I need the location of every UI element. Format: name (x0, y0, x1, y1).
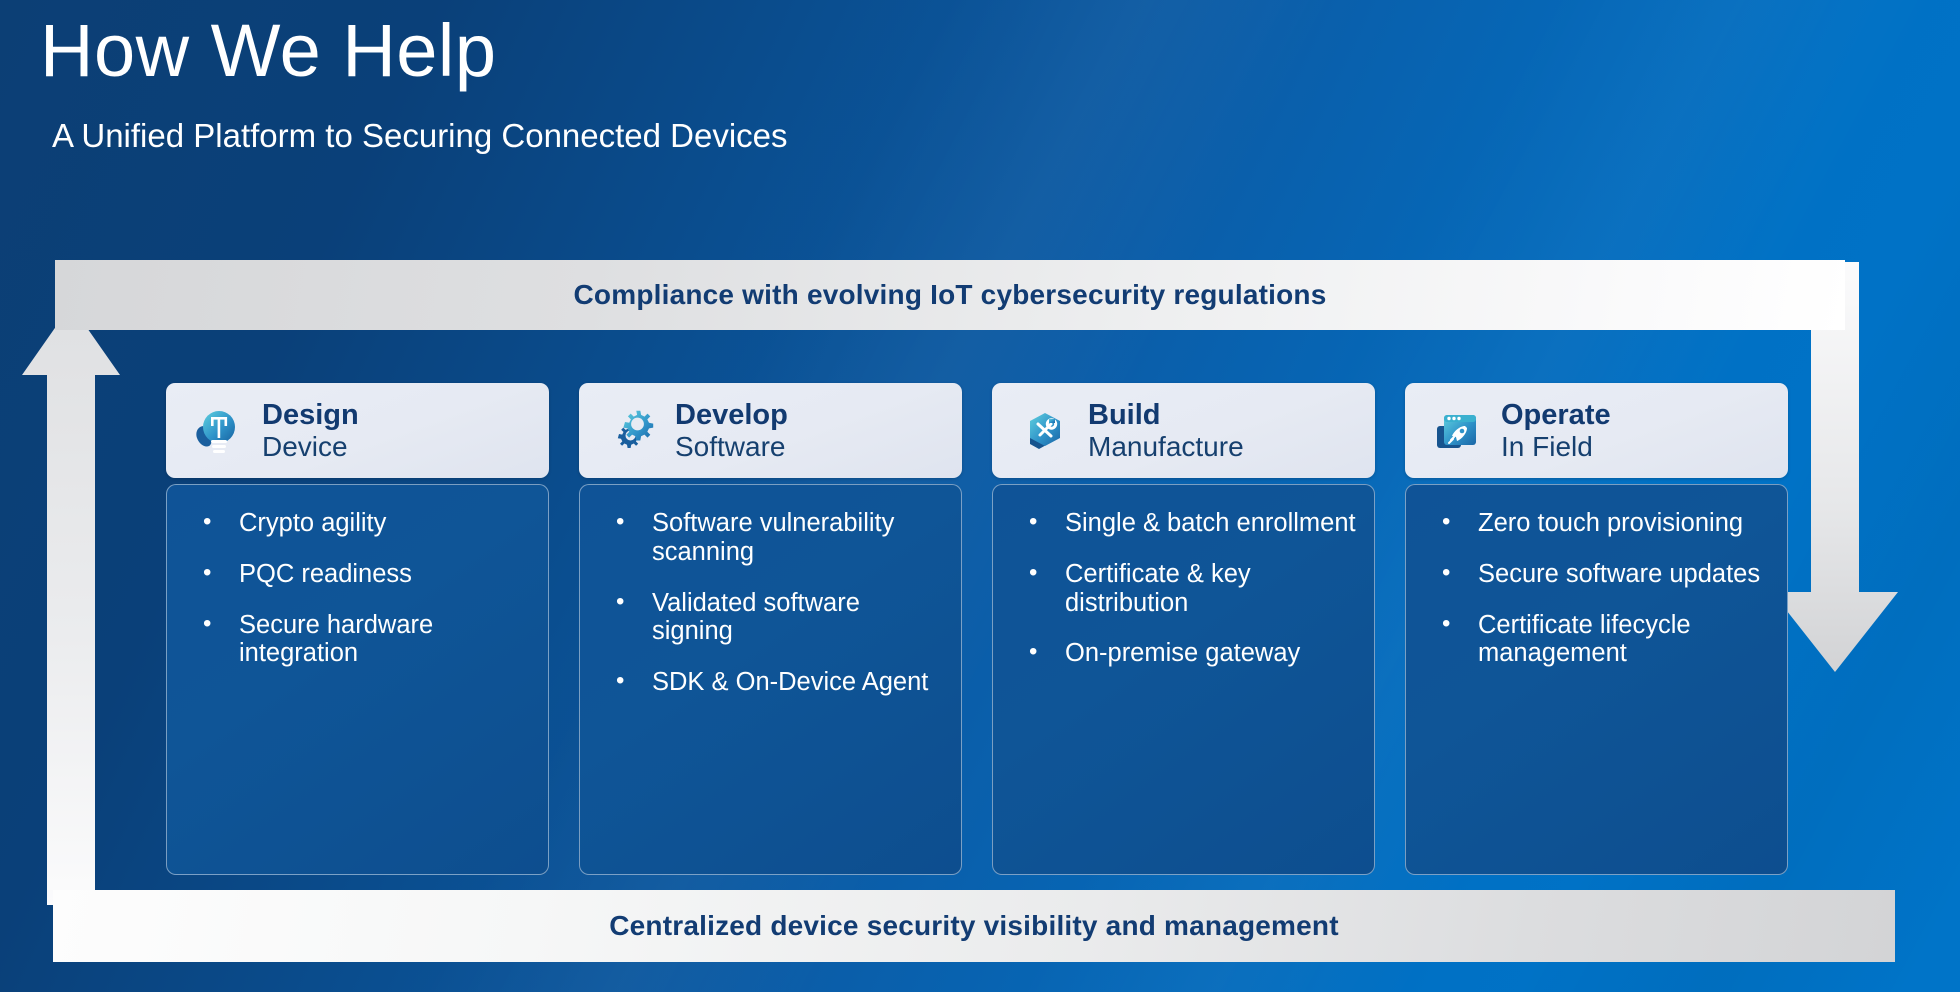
card-operate-title: Operate (1501, 399, 1611, 431)
card-design[interactable]: Design Device Crypto agility PQC readine… (166, 383, 549, 875)
card-build[interactable]: Build Manufacture Single & batch enrollm… (992, 383, 1375, 875)
card-operate-body: Zero touch provisioning Secure software … (1405, 484, 1788, 875)
card-operate-bullets: Zero touch provisioning Secure software … (1426, 509, 1769, 668)
card-develop[interactable]: Develop Software Software vulnerability … (579, 383, 962, 875)
list-item: SDK & On-Device Agent (600, 668, 943, 697)
card-develop-subtitle: Software (675, 431, 788, 462)
page-title: How We Help (40, 8, 497, 93)
list-item: Certificate lifecycle management (1426, 611, 1769, 669)
card-build-title: Build (1088, 399, 1244, 431)
card-design-titles: Design Device (262, 399, 359, 463)
card-build-body: Single & batch enrollment Certificate & … (992, 484, 1375, 875)
card-develop-header[interactable]: Develop Software (579, 383, 962, 478)
card-operate-subtitle: In Field (1501, 431, 1611, 462)
card-operate-titles: Operate In Field (1501, 399, 1611, 463)
card-develop-body: Software vulnerability scanning Validate… (579, 484, 962, 875)
list-item: Zero touch provisioning (1426, 509, 1769, 538)
stage-cards: Design Device Crypto agility PQC readine… (166, 383, 1788, 875)
card-develop-titles: Develop Software (675, 399, 788, 463)
card-design-subtitle: Device (262, 431, 359, 462)
hexagon-tools-icon (1016, 404, 1070, 458)
list-item: Software vulnerability scanning (600, 509, 943, 567)
list-item: Certificate & key distribution (1013, 560, 1356, 618)
card-develop-bullets: Software vulnerability scanning Validate… (600, 509, 943, 697)
list-item: Secure hardware integration (187, 611, 530, 669)
card-build-header[interactable]: Build Manufacture (992, 383, 1375, 478)
window-rocket-icon (1429, 404, 1483, 458)
card-build-subtitle: Manufacture (1088, 431, 1244, 462)
card-develop-title: Develop (675, 399, 788, 431)
card-build-bullets: Single & batch enrollment Certificate & … (1013, 509, 1356, 668)
card-design-bullets: Crypto agility PQC readiness Secure hard… (187, 509, 530, 668)
list-item: Crypto agility (187, 509, 530, 538)
card-design-body: Crypto agility PQC readiness Secure hard… (166, 484, 549, 875)
list-item: Secure software updates (1426, 560, 1769, 589)
top-banner: Compliance with evolving IoT cybersecuri… (55, 260, 1845, 330)
card-operate[interactable]: Operate In Field Zero touch provisioning… (1405, 383, 1788, 875)
top-banner-text: Compliance with evolving IoT cybersecuri… (574, 279, 1327, 311)
list-item: PQC readiness (187, 560, 530, 589)
bottom-banner: Centralized device security visibility a… (53, 890, 1895, 962)
list-item: On-premise gateway (1013, 639, 1356, 668)
lightbulb-icon (190, 404, 244, 458)
gears-icon (603, 404, 657, 458)
list-item: Validated software signing (600, 589, 943, 647)
page-subtitle: A Unified Platform to Securing Connected… (52, 117, 788, 155)
card-design-title: Design (262, 399, 359, 431)
bottom-banner-text: Centralized device security visibility a… (609, 910, 1339, 942)
slide-root: How We Help A Unified Platform to Securi… (0, 0, 1960, 992)
card-operate-header[interactable]: Operate In Field (1405, 383, 1788, 478)
card-design-header[interactable]: Design Device (166, 383, 549, 478)
up-arrow-icon (22, 305, 120, 905)
card-build-titles: Build Manufacture (1088, 399, 1244, 463)
list-item: Single & batch enrollment (1013, 509, 1356, 538)
